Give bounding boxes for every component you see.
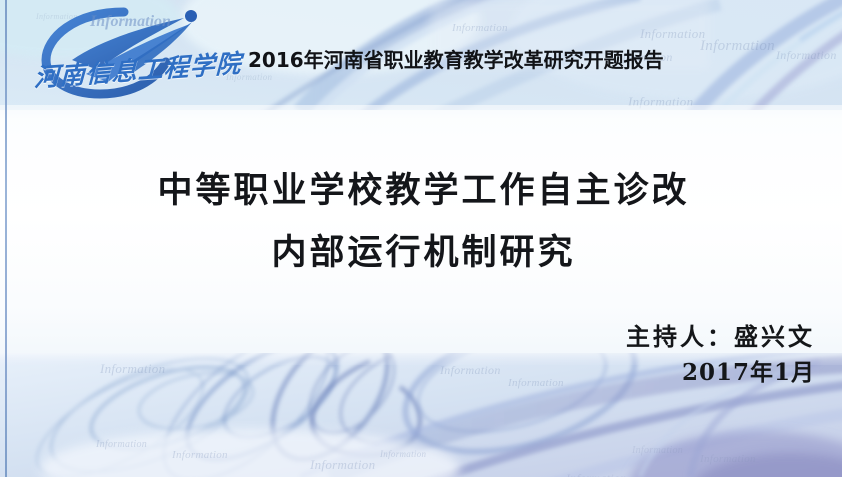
header-title: 2016年河南省职业教育教学改革研究开题报告 xyxy=(248,44,664,73)
presentation-date: 2017年1月 xyxy=(626,356,815,390)
institution-logo: Information 河南信息工程学院 xyxy=(28,4,218,104)
presenter-block: 主持人：盛兴文 2017年1月 xyxy=(626,320,815,390)
page-title: 中等职业学校教学工作自主诊改 内部运行机制研究 xyxy=(0,160,847,284)
page-title-line-2: 内部运行机制研究 xyxy=(0,222,847,284)
page-title-line-1: 中等职业学校教学工作自主诊改 xyxy=(0,160,847,222)
title-slide: Information Information Information Info… xyxy=(0,0,847,477)
presenter-name: 主持人：盛兴文 xyxy=(626,320,815,354)
svg-text:Information: Information xyxy=(89,13,171,30)
